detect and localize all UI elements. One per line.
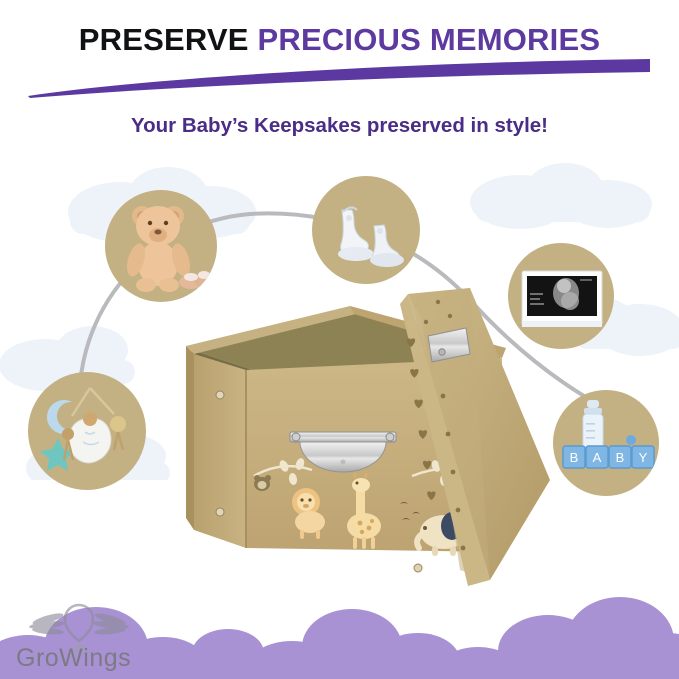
badge-bib-moon-star [28, 372, 146, 490]
block-letter-2: B [616, 450, 625, 465]
title-part-1: PRESERVE [79, 22, 249, 57]
title-part-2: PRECIOUS MEMORIES [257, 22, 600, 57]
block-letter-1: A [593, 450, 602, 465]
title-swoosh [24, 56, 654, 100]
hanging-sun-icon [110, 416, 126, 450]
baby-booties-icon [338, 207, 404, 267]
page-title: PRESERVE PRECIOUS MEMORIES [0, 22, 679, 58]
logo-text: GroWings [16, 644, 131, 673]
box-left-edge [186, 346, 194, 530]
box-side-panel [194, 354, 246, 548]
block-letter-0: B [570, 450, 579, 465]
bib-icon [68, 412, 111, 463]
promo-image: B A B Y [0, 0, 679, 679]
baby-blocks-icon: B A B Y [563, 435, 654, 468]
badge-baby-booties [312, 176, 420, 284]
keepsake-box [150, 280, 570, 610]
page-subtitle: Your Baby’s Keepsakes preserved in style… [0, 114, 679, 138]
block-letter-3: Y [639, 450, 648, 465]
mobile-arm-icon [72, 388, 114, 416]
